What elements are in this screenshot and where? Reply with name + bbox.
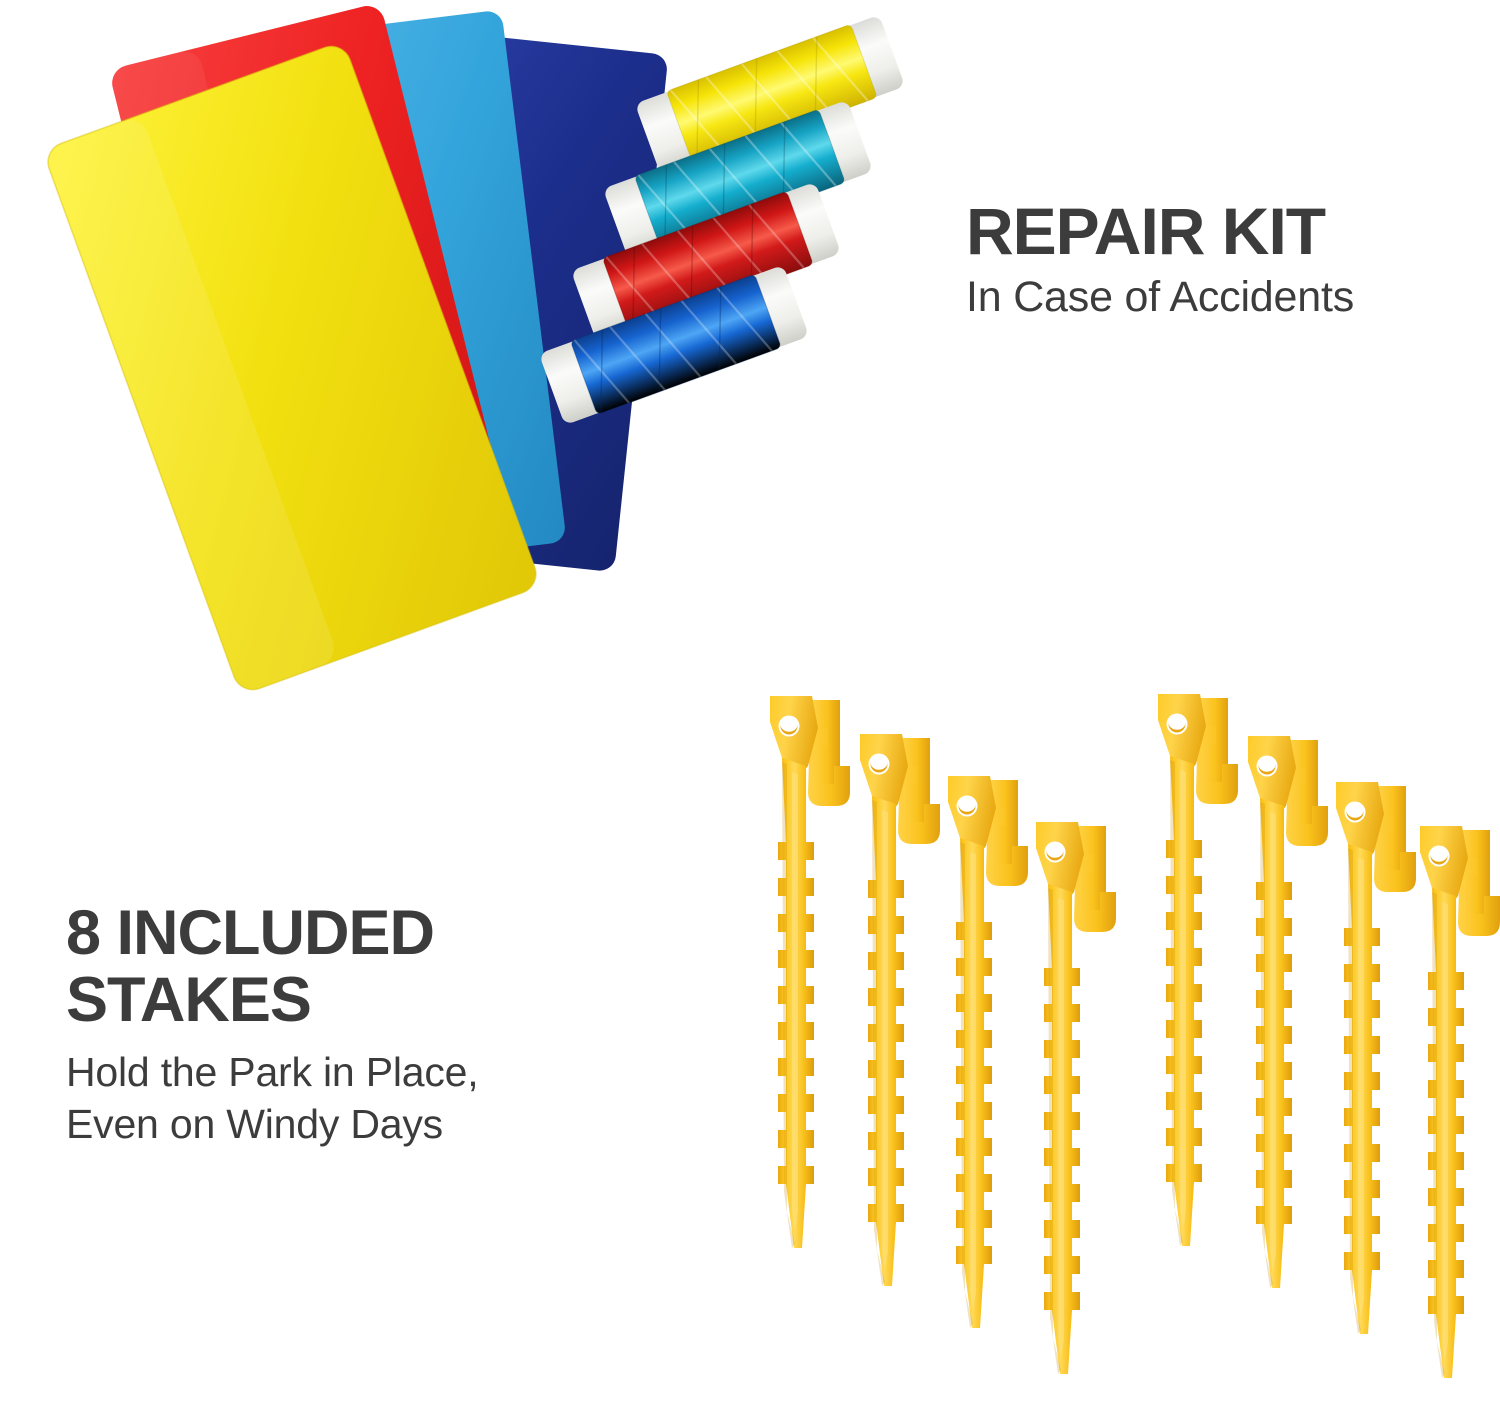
infographic-page: REPAIR KIT In Case of Accidents 8 INCLUD… <box>0 0 1500 1418</box>
included-stakes-headline: 8 INCLUDED STAKES <box>66 900 686 1034</box>
stake-6 <box>1248 736 1328 1288</box>
tent-stakes-art <box>700 670 1500 1390</box>
stake-group-right <box>1158 694 1500 1378</box>
repair-kit-subline: In Case of Accidents <box>966 271 1486 323</box>
repair-kit-art <box>0 0 940 700</box>
stake-2 <box>860 734 940 1286</box>
stake-8 <box>1420 826 1500 1378</box>
stake-4 <box>1036 822 1116 1374</box>
stake-group-left <box>770 696 1116 1374</box>
repair-kit-headline: REPAIR KIT <box>966 198 1486 265</box>
stake-5 <box>1158 694 1238 1246</box>
repair-kit-text-block: REPAIR KIT In Case of Accidents <box>966 198 1486 324</box>
included-stakes-subline: Hold the Park in Place, Even on Windy Da… <box>66 1046 686 1151</box>
stake-3 <box>948 776 1028 1328</box>
included-stakes-text-block: 8 INCLUDED STAKES Hold the Park in Place… <box>66 900 686 1150</box>
stake-7 <box>1336 782 1416 1334</box>
stake-1 <box>770 696 850 1248</box>
